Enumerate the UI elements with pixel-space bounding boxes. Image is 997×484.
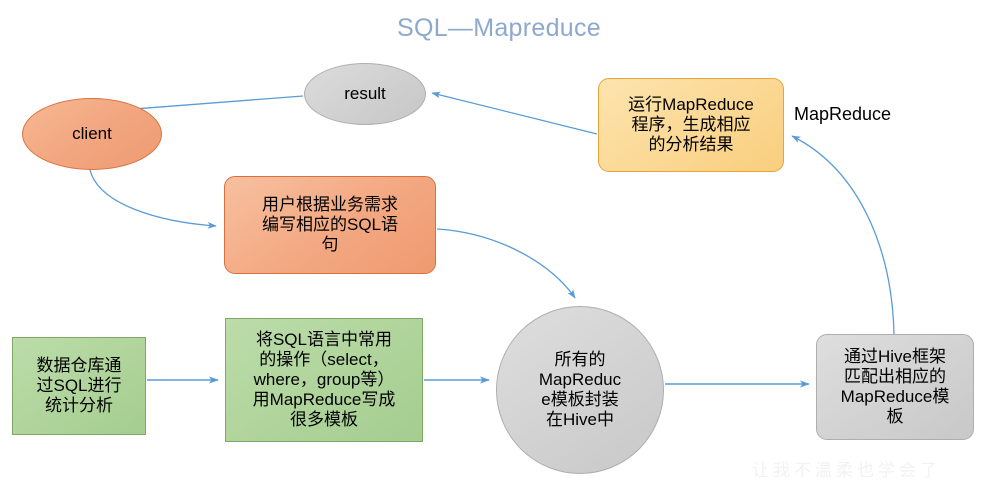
edge-mapreduce-to-result	[432, 93, 597, 134]
node-sql-templates[interactable]: 将SQL语言中常用 的操作（select， where，group等） 用Map…	[225, 318, 423, 442]
label-mapreduce: MapReduce	[794, 104, 891, 125]
edge-result-to-client	[121, 96, 303, 110]
node-result[interactable]: result	[304, 63, 426, 125]
watermark: 让我不温柔也学会了	[752, 456, 982, 481]
edge-hive-match-to-run-mapreduce	[792, 136, 894, 334]
page-title: SQL—Mapreduce	[299, 14, 699, 43]
diagram-canvas: SQL—Mapreduce	[0, 0, 997, 484]
node-hive-match-template[interactable]: 通过Hive框架 匹配出相应的 MapReduce模 板	[816, 334, 974, 440]
edge-write-sql-to-hive-circle	[437, 229, 575, 298]
node-write-sql[interactable]: 用户根据业务需求 编写相应的SQL语 句	[224, 176, 436, 274]
node-run-mapreduce[interactable]: 运行MapReduce 程序，生成相应 的分析结果	[598, 78, 784, 172]
edge-client-to-write-sql	[90, 170, 216, 226]
node-client[interactable]: client	[22, 98, 162, 170]
node-data-warehouse[interactable]: 数据仓库通 过SQL进行 统计分析	[12, 337, 146, 435]
node-hive-encapsulation[interactable]: 所有的 MapReduc e模板封装 在Hive中	[496, 306, 664, 474]
